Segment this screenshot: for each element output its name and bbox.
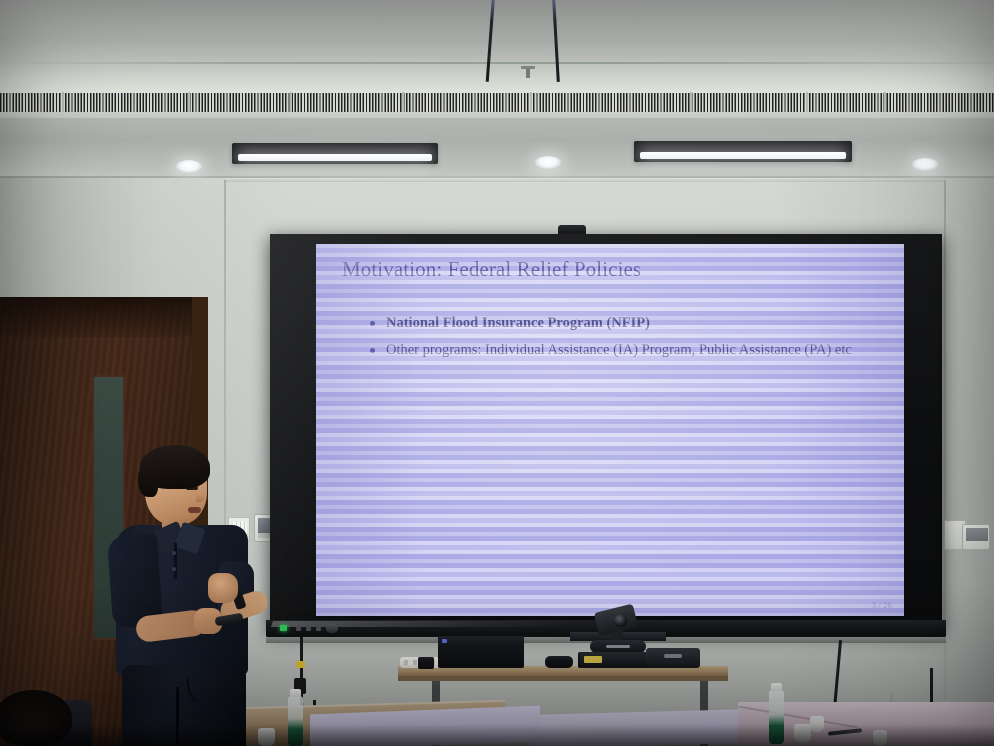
presenter-right-hand bbox=[208, 573, 238, 603]
ceiling bbox=[0, 0, 994, 100]
soundbar-button[interactable] bbox=[296, 627, 301, 631]
water-bottle[interactable] bbox=[769, 690, 784, 744]
media-player-box[interactable] bbox=[438, 636, 524, 668]
soundbar-button[interactable] bbox=[306, 627, 311, 631]
hvac-segment-divider bbox=[884, 92, 886, 114]
presenter-nose bbox=[196, 493, 204, 502]
presenter-shirt-button bbox=[172, 567, 176, 571]
slide-page-number: 3 / 26 bbox=[872, 601, 892, 610]
light-tube bbox=[238, 154, 432, 161]
hvac-segment-divider bbox=[530, 92, 532, 114]
downlight-icon-left bbox=[176, 160, 202, 173]
bullet-dot-icon bbox=[370, 321, 375, 326]
downlight-icon-center bbox=[535, 156, 561, 169]
presentation-slide[interactable]: Motivation: Federal Relief Policies Nati… bbox=[316, 244, 904, 616]
hvac-segment-divider bbox=[62, 92, 64, 114]
paper-cup[interactable] bbox=[794, 724, 811, 742]
downlight-icon-right bbox=[912, 158, 938, 171]
presenter-shirt-placket bbox=[174, 543, 177, 579]
hvac-segment-divider bbox=[806, 92, 808, 114]
hvac-louvers bbox=[0, 93, 994, 113]
camera-lens-icon bbox=[614, 614, 627, 627]
door-top-shadow bbox=[0, 297, 192, 337]
power-led-icon bbox=[280, 625, 287, 631]
paper-cup[interactable] bbox=[810, 716, 824, 732]
slide-bullet-text: Other programs: Individual Assistance (I… bbox=[386, 342, 852, 358]
cable-clip-icon bbox=[296, 661, 305, 668]
bottle-cap bbox=[290, 689, 301, 697]
slide-projection-glow bbox=[316, 244, 904, 616]
water-bottle[interactable] bbox=[288, 696, 303, 746]
slide-bullet-list: National Flood Insurance Program (NFIP) … bbox=[368, 314, 888, 367]
hvac-segment-divider bbox=[188, 92, 190, 114]
slide-scanline-banding bbox=[316, 244, 904, 616]
bottle-cap bbox=[771, 683, 782, 691]
slide-title: Motivation: Federal Relief Policies bbox=[342, 257, 641, 282]
presenter-hair-side bbox=[138, 465, 158, 497]
soundbar-knob[interactable] bbox=[326, 624, 338, 633]
label-sticker bbox=[584, 656, 602, 663]
slide-bullet-item: National Flood Insurance Program (NFIP) bbox=[368, 314, 888, 334]
equipment-shelf-edge bbox=[398, 676, 728, 681]
wall-control-panel-right[interactable] bbox=[962, 524, 990, 550]
wall-display[interactable]: Motivation: Federal Relief Policies Nati… bbox=[270, 234, 942, 630]
power-adapter bbox=[418, 657, 434, 669]
presenter bbox=[110, 443, 280, 746]
hvac-segment-divider bbox=[290, 92, 292, 114]
bullet-dot-icon bbox=[370, 348, 375, 353]
hvac-vent-grille bbox=[0, 92, 994, 114]
presenter-mouth bbox=[188, 507, 201, 513]
paper-cup[interactable] bbox=[873, 730, 887, 746]
presenter-leg-seam bbox=[176, 687, 179, 746]
conference-room-photo: Motivation: Federal Relief Policies Nati… bbox=[0, 0, 994, 746]
slide-edge-vignette bbox=[316, 244, 904, 616]
light-tube bbox=[640, 152, 846, 159]
soundbar-button[interactable] bbox=[316, 627, 321, 631]
hvac-segment-divider bbox=[690, 92, 692, 114]
hvac-segment-divider bbox=[402, 92, 404, 114]
linear-light-fixture-left bbox=[232, 143, 438, 164]
table-cloth-center bbox=[530, 709, 750, 746]
slide-bullet-item: Other programs: Individual Assistance (I… bbox=[368, 341, 888, 361]
secondary-av-device[interactable] bbox=[646, 648, 700, 668]
presenter-shirt-button bbox=[172, 551, 176, 555]
slide-bullet-text: National Flood Insurance Program (NFIP) bbox=[386, 315, 650, 331]
small-device[interactable] bbox=[545, 656, 573, 668]
sprinkler-stem bbox=[526, 69, 530, 78]
fire-sprinkler-icon bbox=[521, 66, 535, 78]
slide-moire-banding bbox=[316, 244, 904, 616]
linear-light-fixture-right bbox=[634, 141, 852, 162]
seated-attendee bbox=[0, 690, 72, 746]
ceiling-seam bbox=[0, 62, 994, 64]
